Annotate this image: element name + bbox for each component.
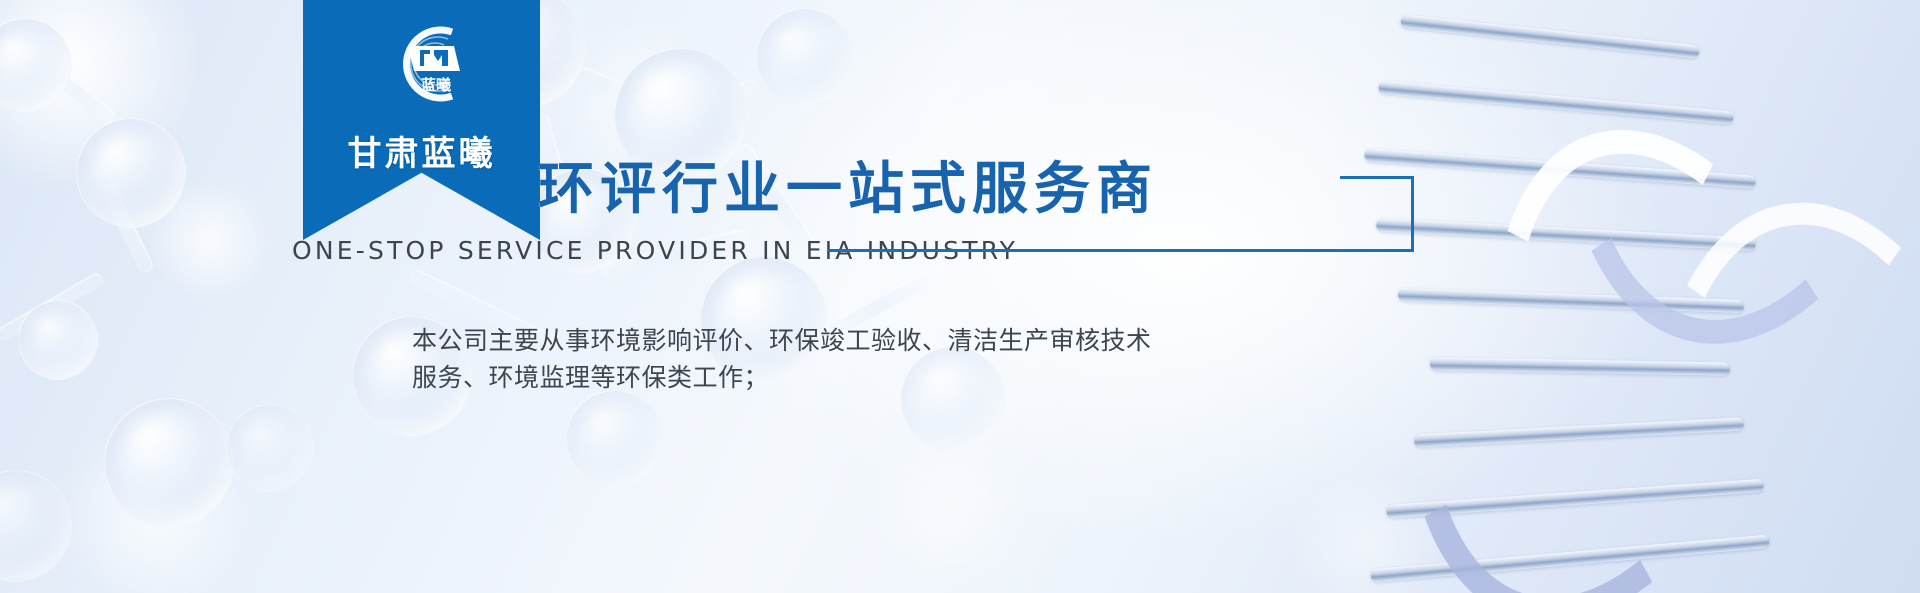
horizontal-rule-icon [828,249,1414,252]
description-line: 服务、环境监理等环保类工作； [412,359,1202,396]
logo-mark-text: 蓝曦 [420,76,450,94]
description-line: 本公司主要从事环境影响评价、环保竣工验收、清洁生产审核技术 [412,322,1202,359]
company-description: 本公司主要从事环境影响评价、环保竣工验收、清洁生产审核技术 服务、环境监理等环保… [412,322,1202,396]
dna-helix-icon [1360,0,1920,593]
vertical-rule-icon [1411,176,1414,252]
hero-banner: 蓝曦 甘肃蓝曦 环评行业一站式服务商 ONE-STOP SERVICE PROV… [0,0,1920,593]
company-short-name: 甘肃蓝曦 [348,126,496,175]
top-bracket-rule-icon [1340,176,1414,179]
brand-ribbon: 蓝曦 甘肃蓝曦 [303,0,540,240]
page-title: 环评行业一站式服务商 [538,144,1158,225]
lanxi-emblem-icon: 蓝曦 [368,14,476,114]
